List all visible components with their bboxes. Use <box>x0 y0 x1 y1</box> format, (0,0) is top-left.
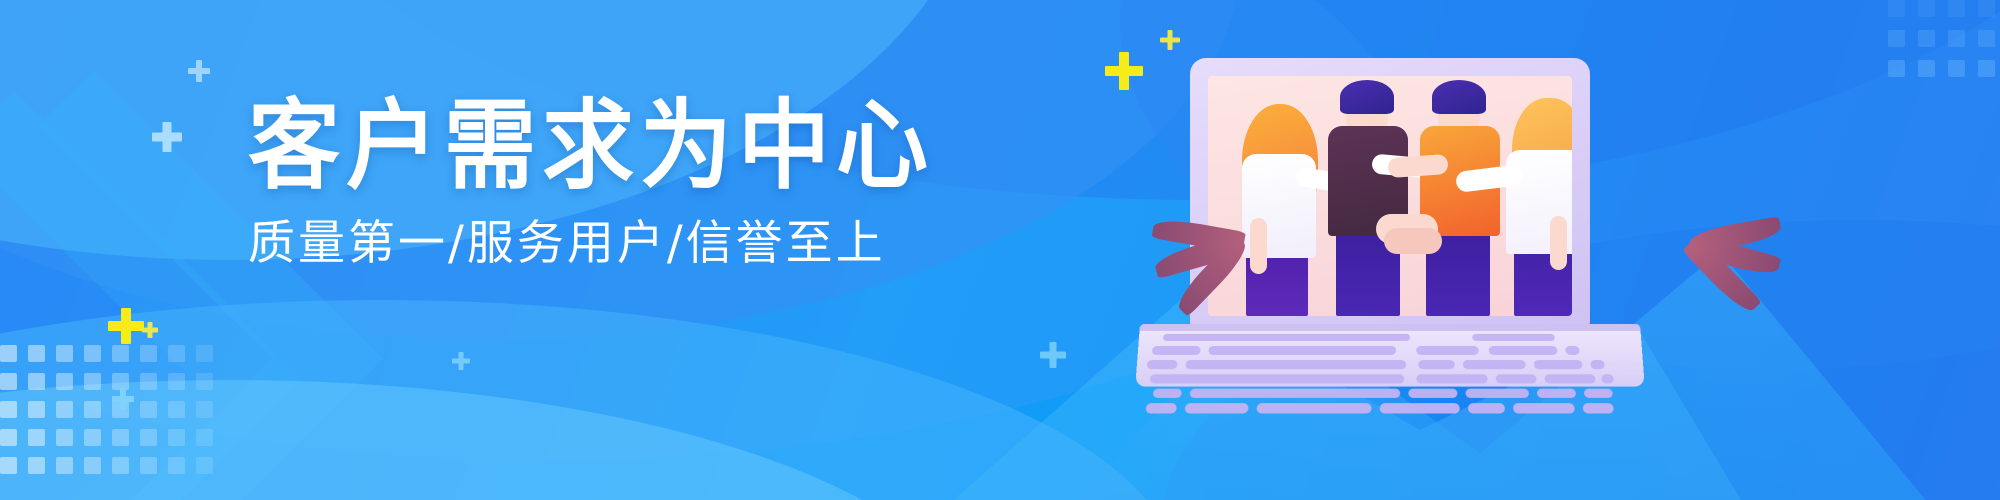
keyboard-key <box>1416 374 1487 383</box>
keyboard-key <box>1584 389 1613 398</box>
sparkle-cyan-right <box>1040 342 1066 368</box>
keyboard-key <box>1147 360 1178 369</box>
keyboard-key <box>1565 346 1580 355</box>
promo-banner: 客户需求为中心 质量第一/服务用户/信誉至上 <box>0 0 2000 500</box>
sparkle-yellow-small <box>1160 30 1180 50</box>
keyboard-key <box>1150 374 1405 383</box>
keyboard-key <box>1472 334 1555 341</box>
sparkle-cyan-far <box>452 352 470 370</box>
keyboard-key <box>1463 360 1526 369</box>
keyboard-key <box>1534 360 1583 369</box>
keyboard-key <box>1416 346 1479 355</box>
laptop-screen <box>1208 76 1572 316</box>
laptop-keyboard-base <box>1135 324 1645 387</box>
keyboard-key <box>1465 389 1529 398</box>
keyboard-key <box>1544 374 1595 383</box>
keyboard-key <box>1153 389 1182 398</box>
keyboard-key <box>1537 389 1576 398</box>
laptop-illustration <box>1140 58 1640 358</box>
laptop-hinge <box>1139 324 1640 331</box>
keyboard-key <box>1468 403 1505 413</box>
keyboard-key <box>1418 360 1455 369</box>
laptop-lid <box>1190 58 1590 326</box>
keyboard-key <box>1590 360 1605 369</box>
stacked-hands-lower <box>1384 228 1442 254</box>
keyboard-key <box>1601 374 1614 383</box>
keyboard-key <box>1152 346 1201 355</box>
banner-copy: 客户需求为中心 质量第一/服务用户/信誉至上 <box>248 98 868 267</box>
keyboard-key <box>1380 403 1460 413</box>
keyboard-key <box>1185 360 1406 369</box>
keyboard-key <box>1489 346 1558 355</box>
keyboard-key <box>1185 403 1249 413</box>
keyboard-key <box>1163 334 1410 341</box>
page-title: 客户需求为中心 <box>248 98 868 196</box>
banner-subtitle: 质量第一/服务用户/信誉至上 <box>248 220 868 267</box>
keyboard-key <box>1145 403 1176 413</box>
keyboard-key <box>1496 374 1537 383</box>
keyboard-key <box>1408 389 1457 398</box>
person-woman-right <box>1490 88 1572 316</box>
keyboard-key <box>1256 403 1371 413</box>
keyboard-key <box>1513 403 1575 413</box>
sparkle-white-upper <box>188 60 210 82</box>
keyboard-key <box>1190 389 1401 398</box>
sparkle-yellow-large <box>1105 52 1143 90</box>
keyboard-key <box>1208 346 1396 355</box>
keyboard-key <box>1583 403 1614 413</box>
